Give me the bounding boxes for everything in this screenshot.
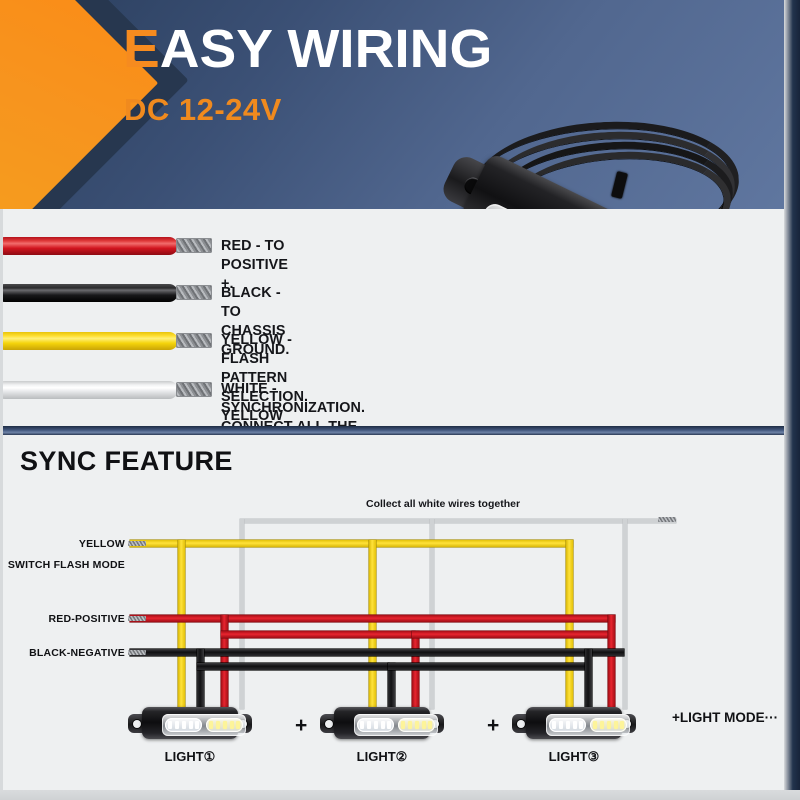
red-branch-to-light3: [412, 631, 609, 638]
led-cluster-right: [590, 718, 627, 732]
wire-swatch-white: [0, 381, 178, 399]
black-drop-light3: [585, 649, 592, 710]
product-photo: [438, 120, 778, 209]
light-housing: [142, 707, 238, 739]
black-branch-to-light3: [388, 663, 585, 670]
black-drop-light1: [197, 649, 204, 710]
black-drop-light2: [388, 663, 395, 710]
black-rail-stripped-tip: [128, 650, 146, 655]
collect-white-wires-note: Collect all white wires together: [366, 498, 520, 510]
white-drop-light2: [430, 519, 434, 709]
wire-swatch-red: [0, 237, 178, 255]
stripped-braid-icon: [176, 238, 212, 253]
screw-hole-icon: [133, 720, 141, 728]
plus-symbol-2: +: [487, 714, 499, 738]
yellow-drop-light2: [369, 540, 376, 710]
light-module-2-label: LIGHT②: [320, 749, 444, 765]
red-drop-light3: [608, 615, 615, 710]
page-title: EASY WIRING: [123, 22, 492, 76]
screw-hole-icon: [325, 720, 333, 728]
light-lens: [463, 200, 719, 209]
light-lens: [354, 714, 438, 736]
red-rail-horizontal: [130, 615, 615, 622]
page-title-rest: ASY WIRING: [160, 19, 493, 79]
white-sync-bus-horizontal: [240, 519, 676, 523]
led-cluster-left: [357, 718, 394, 732]
led-cluster-right: [206, 718, 243, 732]
light-housing: [334, 707, 430, 739]
red-drop-light2: [412, 631, 419, 710]
infographic-page: EASY WIRING DC 12-24V: [0, 0, 800, 800]
light-module-1-label: LIGHT①: [128, 749, 252, 765]
page-title-lead-letter: E: [123, 19, 160, 79]
light-lens: [162, 714, 246, 736]
plus-symbol-1: +: [295, 714, 307, 738]
wire-swatch-black: [0, 284, 178, 302]
stripped-braid-icon: [176, 333, 212, 348]
black-rail-horizontal: [130, 649, 624, 656]
led-cluster-right: [398, 718, 435, 732]
light-lens: [546, 714, 630, 736]
led-cluster-left: [165, 718, 202, 732]
yellow-rail-stripped-tip: [128, 541, 146, 546]
white-drop-light3: [623, 519, 627, 709]
light-module-2: LIGHT②: [320, 705, 444, 741]
light-module-1: LIGHT①: [128, 705, 252, 741]
screw-hole-icon: [517, 720, 525, 728]
right-edge-shadow: [784, 0, 800, 800]
light-module-3: LIGHT③: [512, 705, 636, 741]
yellow-drop-light1: [178, 540, 185, 710]
section-divider: [0, 426, 800, 435]
red-rail-stripped-tip: [128, 616, 146, 621]
yellow-drop-light3: [566, 540, 573, 710]
white-bus-stripped-tip: [658, 517, 676, 522]
led-cluster-left: [549, 718, 586, 732]
wire-legend-section: RED - TO POSITIVE +. BLACK - TO CHASSIS …: [0, 209, 800, 426]
light-housing: [526, 707, 622, 739]
page-subtitle: DC 12-24V: [124, 92, 282, 128]
red-branch-to-light2: [221, 631, 415, 638]
white-drop-light1: [240, 519, 244, 709]
sync-feature-section: SYNC FEATURE Collect all white wires tog…: [0, 435, 800, 800]
left-edge-line: [0, 209, 3, 800]
light-module-3-label: LIGHT③: [512, 749, 636, 765]
diagram-label-red-positive: RED-POSITIVE: [0, 613, 125, 625]
black-branch-to-light2: [197, 663, 389, 670]
stripped-braid-icon: [176, 382, 212, 397]
diagram-label-switch-flash-mode: SWITCH FLASH MODE: [0, 559, 125, 571]
more-light-mode-text: +LIGHT MODE···: [672, 710, 778, 725]
wire-swatch-yellow: [0, 332, 178, 350]
diagram-label-yellow: YELLOW: [0, 538, 125, 550]
yellow-rail-horizontal: [130, 540, 573, 547]
header-banner: EASY WIRING DC 12-24V: [0, 0, 800, 209]
diagram-label-black-negative: BLACK-NEGATIVE: [0, 647, 125, 659]
sync-section-title: SYNC FEATURE: [20, 446, 233, 477]
stripped-braid-icon: [176, 285, 212, 300]
bottom-edge-line: [0, 790, 800, 800]
